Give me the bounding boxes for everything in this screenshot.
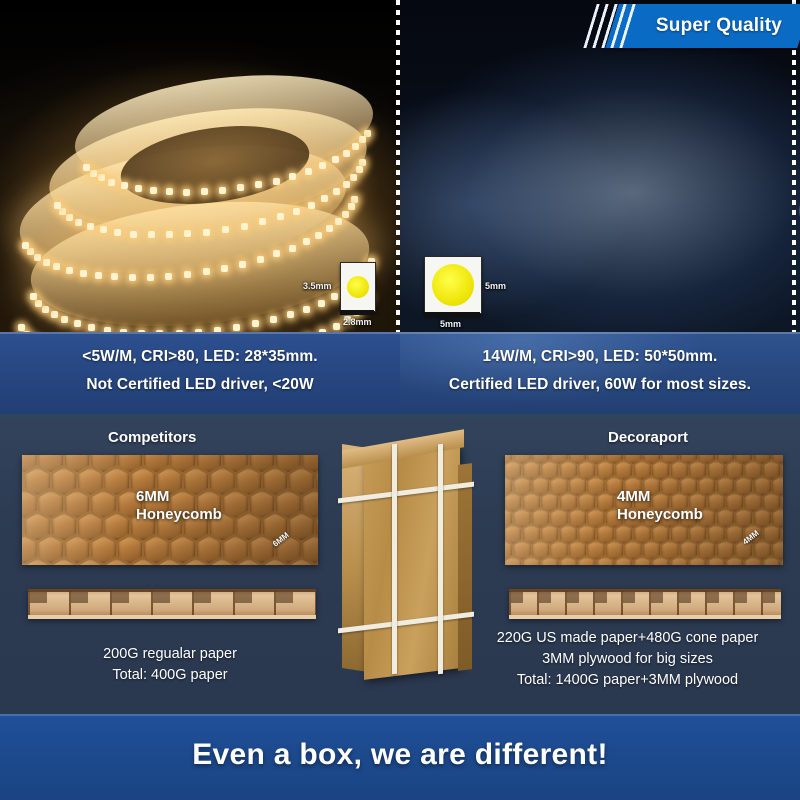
led-dot [59,208,66,215]
led-dot [203,229,210,236]
led-dot [148,231,155,238]
led-dot [147,274,154,281]
led-dot [359,136,366,143]
led-dot [80,270,87,277]
led-chip-base [340,310,374,315]
tagline-band: Even a box, we are different! [0,714,800,800]
led-emitter [347,276,369,298]
led-dot [74,320,81,327]
led-dot [252,320,259,327]
led-dot [287,311,294,318]
led-chip-body [424,256,482,314]
led-dot [233,324,240,331]
led-dot [166,188,173,195]
led-dot [350,174,357,181]
competitor-caption-line-1: 200G regualar paper [10,646,330,662]
competitor-spec-line-2: Not Certified LED driver, <20W [0,376,400,394]
led-dot [100,226,107,233]
led-dot [257,256,264,263]
competitor-honeycomb-edge-strip [28,589,316,619]
competitor-section-title: Competitors [108,429,196,446]
led-dot [129,274,136,281]
led-dot [303,306,310,313]
led-dot [255,181,262,188]
strip-cell-shadow [153,592,170,603]
led-dot [95,272,102,279]
strip-cell-shadow [651,592,663,603]
led-dot [108,179,115,186]
strip-cell-shadow [511,592,523,603]
tagline-text: Even a box, we are different! [0,738,800,772]
strip-cell-shadow [112,592,129,603]
strip-cell-shadow [567,592,579,603]
led-dot [54,202,61,209]
panel-divider [396,0,400,332]
strip-cell-shadow [194,592,211,603]
led-dot [42,306,49,313]
right-edge-dots [792,0,796,332]
competitor-caption-line-2: Total: 400G paper [10,667,330,683]
led-dot [51,311,58,318]
led-dot [356,166,363,173]
band-highlight [0,332,400,334]
led-dot [130,231,137,238]
led-chip-body [340,262,376,312]
honeycomb-size: 6MM [136,488,222,506]
led-dot [332,156,339,163]
led-dot [53,263,60,270]
led-dot [237,184,244,191]
led-dot [27,248,34,255]
strip-cell-shadow [735,592,747,603]
strip-cell-shadow [71,592,88,603]
led-dot [114,229,121,236]
led-dot [66,267,73,274]
led-dot [351,196,358,203]
super-quality-label: Super Quality [636,9,800,43]
led-dot [289,245,296,252]
led-emitter [432,264,474,306]
chip-width-label: 2.8mm [343,317,372,327]
decoraport-honeycomb-label: 4MM Honeycomb [617,488,703,524]
strip-cell-shadow [595,592,607,603]
led-dot [303,238,310,245]
led-dot [203,268,210,275]
competitor-honeycomb-label: 6MM Honeycomb [136,488,222,524]
decoraport-caption-line-3: Total: 1400G paper+3MM plywood [455,672,800,688]
led-dot [221,265,228,272]
chip-width-label: 5mm [440,319,461,329]
led-dot [342,211,349,218]
led-dot [135,185,142,192]
led-dot [184,271,191,278]
led-dot [201,188,208,195]
led-dot [305,168,312,175]
honeycomb-word: Honeycomb [617,506,703,524]
led-dot [66,214,73,221]
led-dot [321,195,328,202]
led-dot [75,219,82,226]
carton-strap-vertical [392,444,397,675]
strip-bottom-edge [28,615,316,619]
led-dot [335,218,342,225]
led-dot [333,323,340,330]
infographic-page: Super Quality 3.5mm 2.8mm 5mm 5mm <5W/M,… [0,0,800,800]
product-photo-row: Super Quality 3.5mm 2.8mm 5mm 5mm [0,0,800,332]
led-dot [359,159,366,166]
strip-cell-shadow [707,592,719,603]
band-highlight [0,714,800,716]
strip-cell-shadow [235,592,252,603]
chip-height-label: 3.5mm [303,281,332,291]
led-dot [326,225,333,232]
led-dot [352,143,359,150]
led-dot [333,188,340,195]
led-dot [348,203,355,210]
led-dot [61,316,68,323]
led-dot [34,254,41,261]
led-dot [22,242,29,249]
carton-front-face [364,446,460,680]
led-dot [90,170,97,177]
led-chip-base [424,312,480,318]
led-dot [273,250,280,257]
strip-cell-wall [315,591,316,617]
led-dot [166,231,173,238]
led-dot [183,189,190,196]
strip-cell-shadow [30,592,47,603]
led-dot [239,261,246,268]
led-dot [308,202,315,209]
led-dot [331,293,338,300]
led-dot [184,230,191,237]
led-dot [83,164,90,171]
led-dot [121,182,128,189]
competitor-spec-line-1: <5W/M, CRI>80, LED: 28*35mm. [0,348,400,366]
led-dot [343,181,350,188]
led-dot [165,273,172,280]
decoraport-spec-line-1: 14W/M, CRI>90, LED: 50*50mm. [400,348,800,366]
carton-strap-vertical [438,444,443,675]
led-dot [150,187,157,194]
led-dot [219,187,226,194]
led-dot [293,208,300,215]
chip-height-label: 5mm [485,281,506,291]
led-dot [259,218,266,225]
led-dot [88,324,95,331]
led-dot [98,174,105,181]
led-dot [270,316,277,323]
led-dot [289,173,296,180]
led-dot [318,300,325,307]
led-dot [30,293,37,300]
decoraport-caption-line-2: 3MM plywood for big sizes [455,651,800,667]
honeycomb-size: 4MM [617,488,703,506]
led-dot [43,259,50,266]
competitor-caption: 200G regualar paper Total: 400G paper [10,646,330,683]
band-highlight [400,332,800,334]
decoraport-caption: 220G US made paper+480G cone paper 3MM p… [455,630,800,688]
led-dot [18,324,25,331]
decoraport-section-title: Decoraport [608,429,688,446]
led-dot [273,178,280,185]
strip-cell-shadow [679,592,691,603]
decoraport-spec-line-2: Certified LED driver, 60W for most sizes… [400,376,800,394]
strip-cell-shadow [763,592,775,603]
led-dot [222,226,229,233]
honeycomb-word: Honeycomb [136,506,222,524]
led-dot [87,223,94,230]
decoraport-honeycomb-edge-strip [509,589,781,619]
strip-bottom-edge [509,615,781,619]
led-dot [277,213,284,220]
led-dot [343,150,350,157]
decoraport-caption-line-1: 220G US made paper+480G cone paper [455,630,800,646]
led-dot [241,223,248,230]
decoraport-spec-band: 14W/M, CRI>90, LED: 50*50mm. Certified L… [400,332,800,414]
strip-cell-shadow [276,592,293,603]
led-dot [315,232,322,239]
strip-cell-shadow [539,592,551,603]
strip-cell-shadow [623,592,635,603]
led-dot [111,273,118,280]
competitor-spec-band: <5W/M, CRI>80, LED: 28*35mm. Not Certifi… [0,332,400,414]
led-dot [319,162,326,169]
led-dot [35,300,42,307]
